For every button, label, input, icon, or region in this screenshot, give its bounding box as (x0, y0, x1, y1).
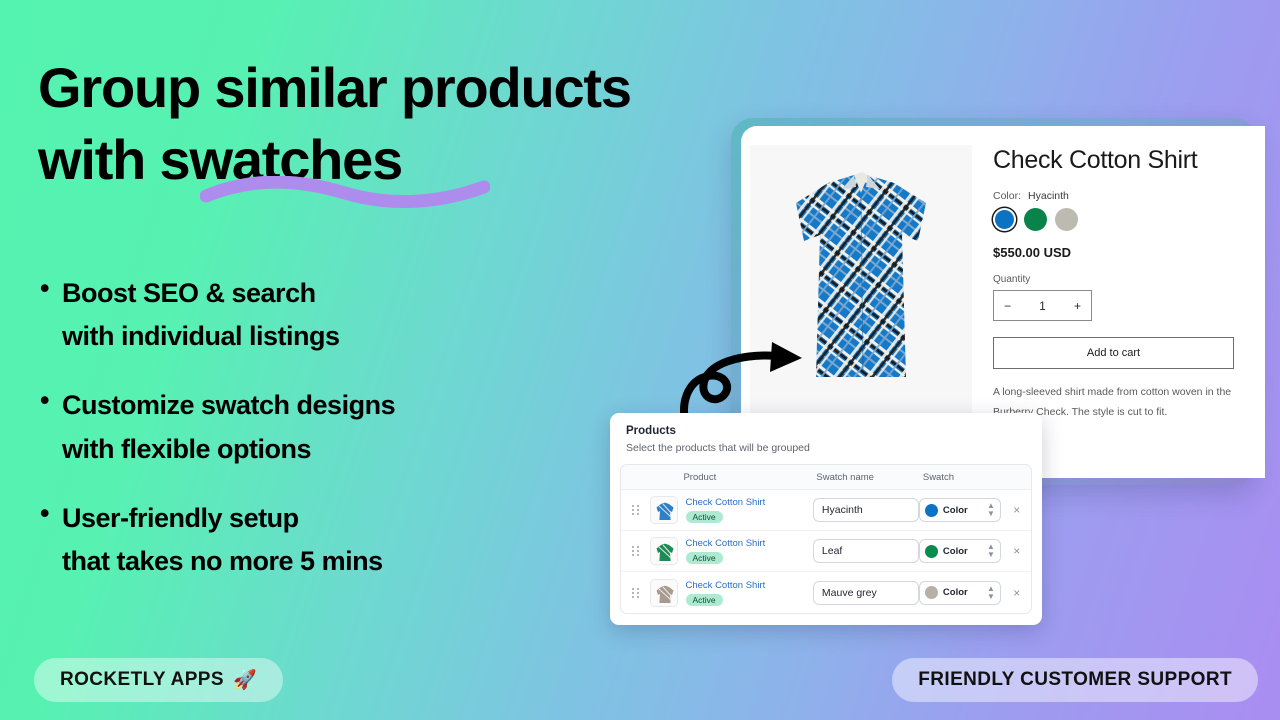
product-link[interactable]: Check Cotton Shirt (686, 538, 766, 549)
bullet-dot-icon: • (40, 272, 62, 358)
table-header-row: Product Swatch name Swatch (621, 465, 1031, 490)
bullet-line-1: User-friendly setup (62, 503, 299, 533)
brand-badge-label: ROCKETLY APPS (60, 669, 224, 691)
option-row: Color: Hyacinth (993, 190, 1255, 202)
swatch-option-mauve-grey[interactable] (1055, 208, 1078, 231)
swatch-name-input[interactable]: Hyacinth (813, 498, 919, 522)
quantity-label: Quantity (993, 274, 1255, 285)
products-panel-subtitle: Select the products that will be grouped (626, 442, 1026, 454)
chevron-updown-icon: ▲▼ (987, 585, 995, 601)
bullet-text: Boost SEO & search with individual listi… (62, 272, 340, 358)
support-badge-label: FRIENDLY CUSTOMER SUPPORT (918, 669, 1232, 691)
product-info: Check Cotton Shirt Color: Hyacinth $550.… (993, 146, 1255, 423)
swatch-type-label: Color (943, 587, 968, 598)
remove-row-button[interactable]: × (1013, 586, 1020, 600)
bullet-line-2: with individual listings (62, 315, 340, 358)
list-item: • Boost SEO & search with individual lis… (40, 272, 640, 358)
swatch-option-leaf[interactable] (1024, 208, 1047, 231)
quantity-increase-button[interactable]: + (1074, 299, 1081, 313)
swatch-name-input[interactable]: Leaf (813, 539, 919, 563)
table-row: Check Cotton Shirt Active Mauve grey Col… (621, 572, 1031, 613)
status-badge: Active (686, 511, 723, 523)
headline-line-2: with swatches (38, 124, 798, 196)
swatch-type-select[interactable]: Color ▲▼ (919, 539, 1001, 563)
brand-badge: ROCKETLY APPS 🚀 (34, 658, 283, 702)
page-title: Group similar products with swatches (38, 52, 798, 195)
products-panel-title: Products (626, 425, 1026, 437)
product-thumbnail (650, 579, 678, 607)
table-row: Check Cotton Shirt Active Hyacinth Color… (621, 490, 1031, 531)
product-link[interactable]: Check Cotton Shirt (686, 580, 766, 591)
list-item: • User-friendly setup that takes no more… (40, 497, 640, 583)
drag-handle-icon[interactable] (621, 505, 650, 515)
swatch-type-label: Color (943, 546, 968, 557)
add-to-cart-button[interactable]: Add to cart (993, 337, 1234, 369)
bullet-dot-icon: • (40, 497, 62, 583)
remove-row-button[interactable]: × (1013, 503, 1020, 517)
products-panel: Products Select the products that will b… (610, 413, 1042, 625)
product-thumbnail (650, 537, 678, 565)
bullet-dot-icon: • (40, 384, 62, 470)
bullet-line-2: that takes no more 5 mins (62, 540, 383, 583)
bullet-line-2: with flexible options (62, 428, 395, 471)
list-item: • Customize swatch designs with flexible… (40, 384, 640, 470)
rocket-icon: 🚀 (233, 668, 257, 692)
products-table: Product Swatch name Swatch (620, 464, 1032, 614)
remove-row-button[interactable]: × (1013, 544, 1020, 558)
swatch-color-dot (925, 586, 938, 599)
products-panel-header: Products Select the products that will b… (610, 413, 1042, 464)
product-title: Check Cotton Shirt (993, 146, 1255, 174)
column-header-product: Product (649, 472, 814, 483)
swatch-type-select[interactable]: Color ▲▼ (919, 498, 1001, 522)
swatch-type-select[interactable]: Color ▲▼ (919, 581, 1001, 605)
feature-list: • Boost SEO & search with individual lis… (40, 272, 640, 609)
bullet-line-1: Customize swatch designs (62, 390, 395, 420)
bullet-line-1: Boost SEO & search (62, 278, 316, 308)
headline-line-1: Group similar products (38, 52, 798, 124)
drag-handle-icon[interactable] (621, 588, 650, 598)
swatch-color-dot (925, 545, 938, 558)
status-badge: Active (686, 594, 723, 606)
column-header-swatch: Swatch (919, 472, 1003, 483)
quantity-decrease-button[interactable]: − (1004, 299, 1011, 313)
drag-handle-icon[interactable] (621, 546, 650, 556)
product-thumbnail (650, 496, 678, 524)
quantity-stepper[interactable]: − 1 + (993, 290, 1092, 321)
option-value: Hyacinth (1028, 190, 1069, 202)
status-badge: Active (686, 552, 723, 564)
chevron-updown-icon: ▲▼ (987, 543, 995, 559)
chevron-updown-icon: ▲▼ (987, 502, 995, 518)
swatch-option-hyacinth[interactable] (993, 208, 1016, 231)
bullet-text: Customize swatch designs with flexible o… (62, 384, 395, 470)
color-swatch-group[interactable] (993, 208, 1255, 231)
swatch-name-input[interactable]: Mauve grey (813, 581, 919, 605)
swatch-type-label: Color (943, 505, 968, 516)
support-badge: FRIENDLY CUSTOMER SUPPORT (892, 658, 1258, 702)
swatch-color-dot (925, 504, 938, 517)
promo-banner: Group similar products with swatches • B… (0, 0, 1280, 720)
quantity-value[interactable]: 1 (1039, 299, 1046, 313)
option-label: Color: (993, 190, 1021, 202)
column-header-swatch-name: Swatch name (814, 472, 918, 483)
product-price: $550.00 USD (993, 245, 1255, 260)
table-row: Check Cotton Shirt Active Leaf Color ▲▼ … (621, 531, 1031, 572)
product-link[interactable]: Check Cotton Shirt (686, 497, 766, 508)
bullet-text: User-friendly setup that takes no more 5… (62, 497, 383, 583)
